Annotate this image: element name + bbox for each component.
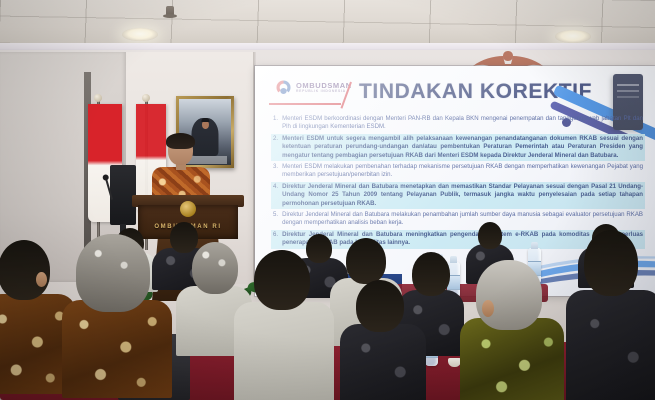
slide-bullet-1: 1. Menteri ESDM berkoordinasi dengan Men… [271,114,645,133]
audience-member [62,234,172,394]
flagpole-finial [142,94,150,102]
audience-head [476,260,542,330]
audience-batik-shirt [566,290,655,400]
audience-area [0,238,655,400]
audience-batik-shirt [62,300,172,398]
bullet-number: 1. [273,115,278,123]
audience-shirt [234,302,334,400]
ceiling-downlight [122,28,158,41]
bullet-number: 3. [273,163,278,171]
ombudsman-logo-text: OMBUDSMAN REPUBLIK INDONESIA [296,82,352,94]
slide-bullet-3: 3. Menteri ESDM melakukan pembenahan ter… [271,162,645,181]
portrait-peci-cap [201,118,209,122]
audience-head [346,238,386,284]
header-red-rule [269,103,341,105]
ceiling-downlight [555,30,591,43]
bullet-text: Menteri ESDM berkoordinasi dengan Menter… [282,115,643,132]
bullet-text: Menteri ESDM melakukan pembenahan terhad… [282,163,643,180]
audience-batik-shirt [460,318,564,400]
bullet-number: 2. [273,135,278,143]
audience-ear [36,272,47,287]
audience-head [478,222,502,249]
ombudsman-logo-icon [275,79,292,96]
audience-head [76,234,150,312]
slide-bullet-4: 4. Direktur Jenderal Mineral dan Batubar… [271,182,645,209]
bullet-text: Direktur Jenderal Mineral dan Batubara m… [282,183,643,208]
audience-member [234,250,334,400]
speaker-hair [166,133,195,149]
fire-sprinkler-head [166,6,174,17]
podium-crest-emblem [180,201,196,217]
audience-head [0,240,50,300]
audience-member [460,260,564,400]
ombudsman-logo: OMBUDSMAN REPUBLIK INDONESIA [275,79,352,96]
presentation-photo-scene: OMBUDSMAN REPUBLIK INDONESIA TINDAKAN KO… [0,0,655,400]
slide-bullet-2: 2. Menteri ESDM untuk segera mengambil a… [271,134,645,161]
bullet-number: 5. [273,211,278,219]
bullet-text: Menteri ESDM untuk segera mengambil alih… [282,135,643,160]
audience-head [192,242,238,294]
audience-member [340,280,426,400]
audience-head [356,280,404,332]
audience-shirt [340,324,426,400]
bullet-number: 4. [273,183,278,191]
flagpole-finial [94,94,102,102]
logo-name: OMBUDSMAN [296,82,352,90]
audience-member [566,230,655,400]
audience-head [254,250,310,310]
logo-subtitle: REPUBLIK INDONESIA [296,90,352,93]
audience-ear [482,300,494,317]
audience-head [584,230,638,296]
